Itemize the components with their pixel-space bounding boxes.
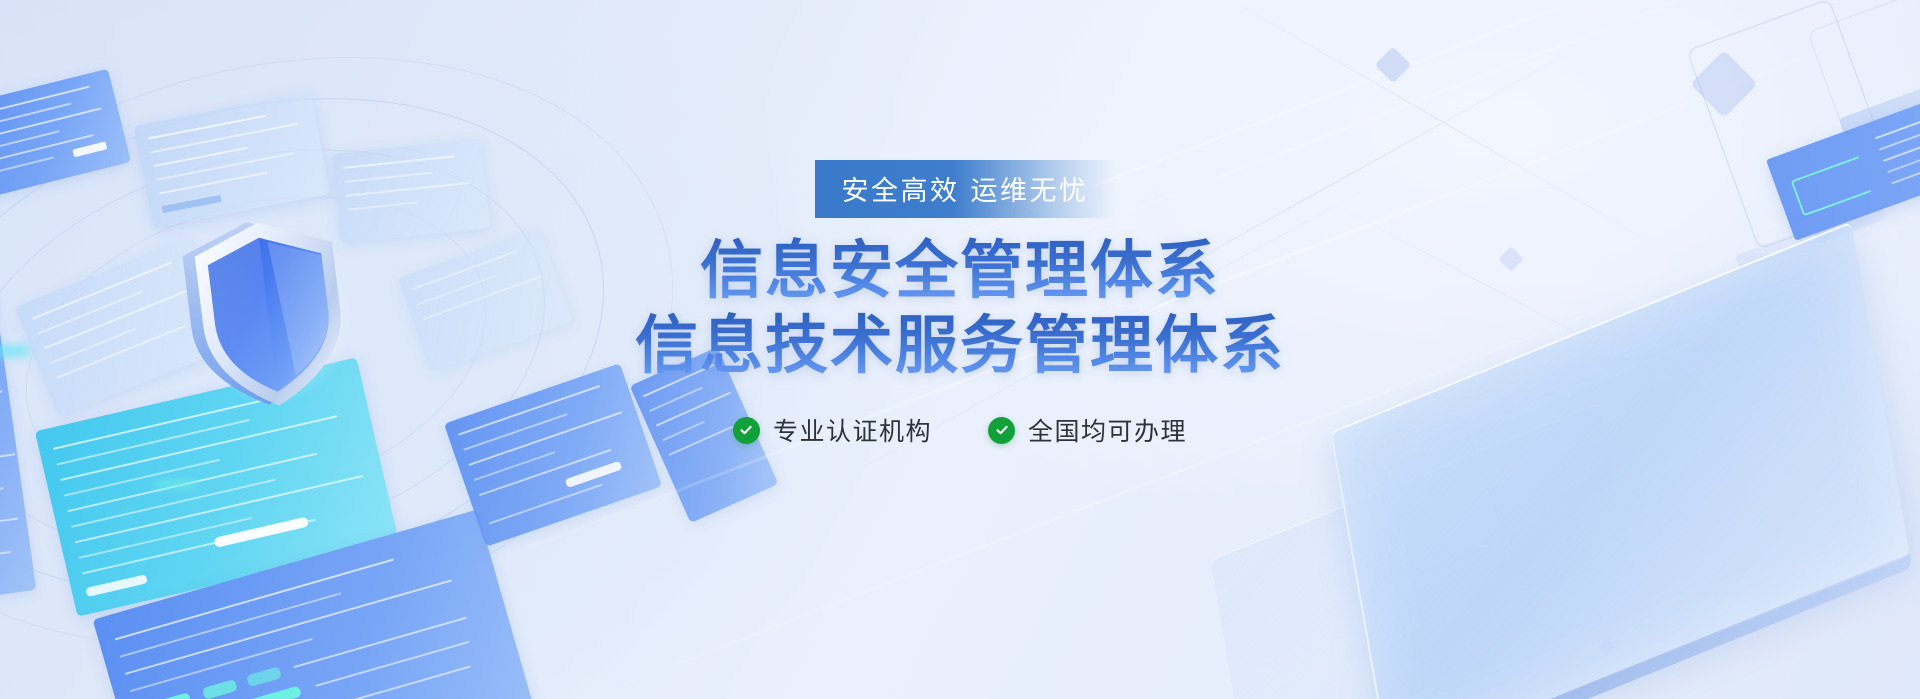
glint <box>156 480 196 488</box>
feature-item: 专业认证机构 <box>733 412 932 448</box>
shield-graphic <box>168 202 371 422</box>
diamond-shape <box>1690 50 1758 118</box>
feature-item: 全国均可办理 <box>988 412 1187 448</box>
feature-label: 专业认证机构 <box>773 412 932 448</box>
diamond-shape <box>1498 246 1523 271</box>
data-panel <box>0 293 36 608</box>
data-panel <box>0 69 131 204</box>
data-panel <box>332 138 491 243</box>
shield-icon <box>168 202 371 422</box>
headline-line-1: 信息安全管理体系 <box>560 234 1360 307</box>
hero-banner: 安全高效 运维无忧 信息安全管理体系 信息技术服务管理体系 专业认证机构 <box>0 0 1920 699</box>
data-panel <box>397 227 572 372</box>
check-circle-icon <box>988 417 1015 444</box>
data-strip <box>1766 47 1920 241</box>
hero-content: 安全高效 运维无忧 信息安全管理体系 信息技术服务管理体系 专业认证机构 <box>560 160 1360 448</box>
tagline-badge: 安全高效 运维无忧 <box>815 160 1114 218</box>
feature-label: 全国均可办理 <box>1028 412 1187 448</box>
strip-outline <box>1791 156 1872 216</box>
check-circle-icon <box>733 417 760 444</box>
diamond-shape <box>1375 47 1412 84</box>
glass-plate <box>1330 221 1910 699</box>
data-panel <box>93 510 544 699</box>
glint <box>0 346 30 356</box>
headline-line-2: 信息技术服务管理体系 <box>560 309 1360 382</box>
feature-list: 专业认证机构 全国均可办理 <box>560 412 1360 448</box>
tagline-text: 安全高效 运维无忧 <box>841 169 1088 208</box>
